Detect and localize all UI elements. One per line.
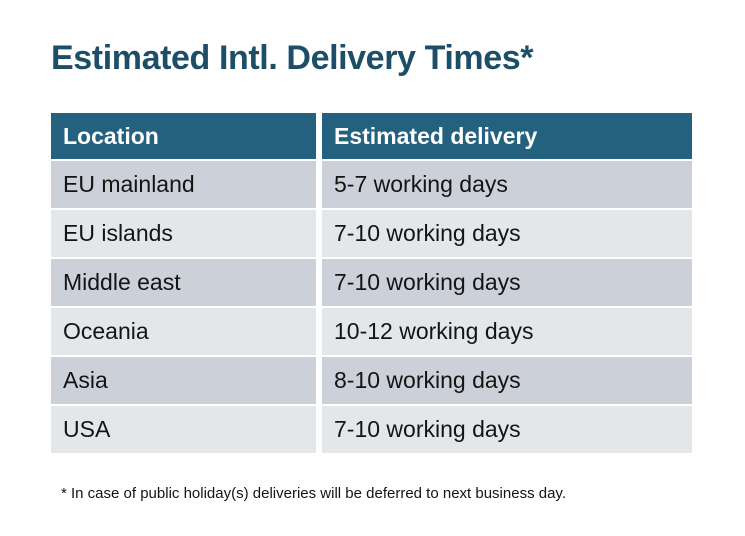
- column-header-location: Location: [51, 113, 316, 159]
- cell-location: EU islands: [51, 210, 316, 257]
- cell-delivery: 5-7 working days: [322, 161, 692, 208]
- table-row: Oceania 10-12 working days: [51, 308, 692, 355]
- cell-location: USA: [51, 406, 316, 453]
- table-header-row: Location Estimated delivery: [51, 113, 692, 159]
- table-row: USA 7-10 working days: [51, 406, 692, 453]
- cell-delivery: 8-10 working days: [322, 357, 692, 404]
- delivery-times-table: Location Estimated delivery EU mainland …: [51, 113, 692, 455]
- table-row: EU islands 7-10 working days: [51, 210, 692, 257]
- table-row: Asia 8-10 working days: [51, 357, 692, 404]
- page-title: Estimated Intl. Delivery Times*: [51, 36, 533, 80]
- cell-location: Oceania: [51, 308, 316, 355]
- cell-location: Middle east: [51, 259, 316, 306]
- cell-location: Asia: [51, 357, 316, 404]
- table-row: EU mainland 5-7 working days: [51, 161, 692, 208]
- cell-delivery: 7-10 working days: [322, 406, 692, 453]
- delivery-times-page: Estimated Intl. Delivery Times* Location…: [0, 0, 745, 536]
- cell-delivery: 7-10 working days: [322, 259, 692, 306]
- footnote: * In case of public holiday(s) deliverie…: [61, 483, 566, 505]
- cell-location: EU mainland: [51, 161, 316, 208]
- table-row: Middle east 7-10 working days: [51, 259, 692, 306]
- cell-delivery: 10-12 working days: [322, 308, 692, 355]
- column-header-estimated-delivery: Estimated delivery: [322, 113, 692, 159]
- cell-delivery: 7-10 working days: [322, 210, 692, 257]
